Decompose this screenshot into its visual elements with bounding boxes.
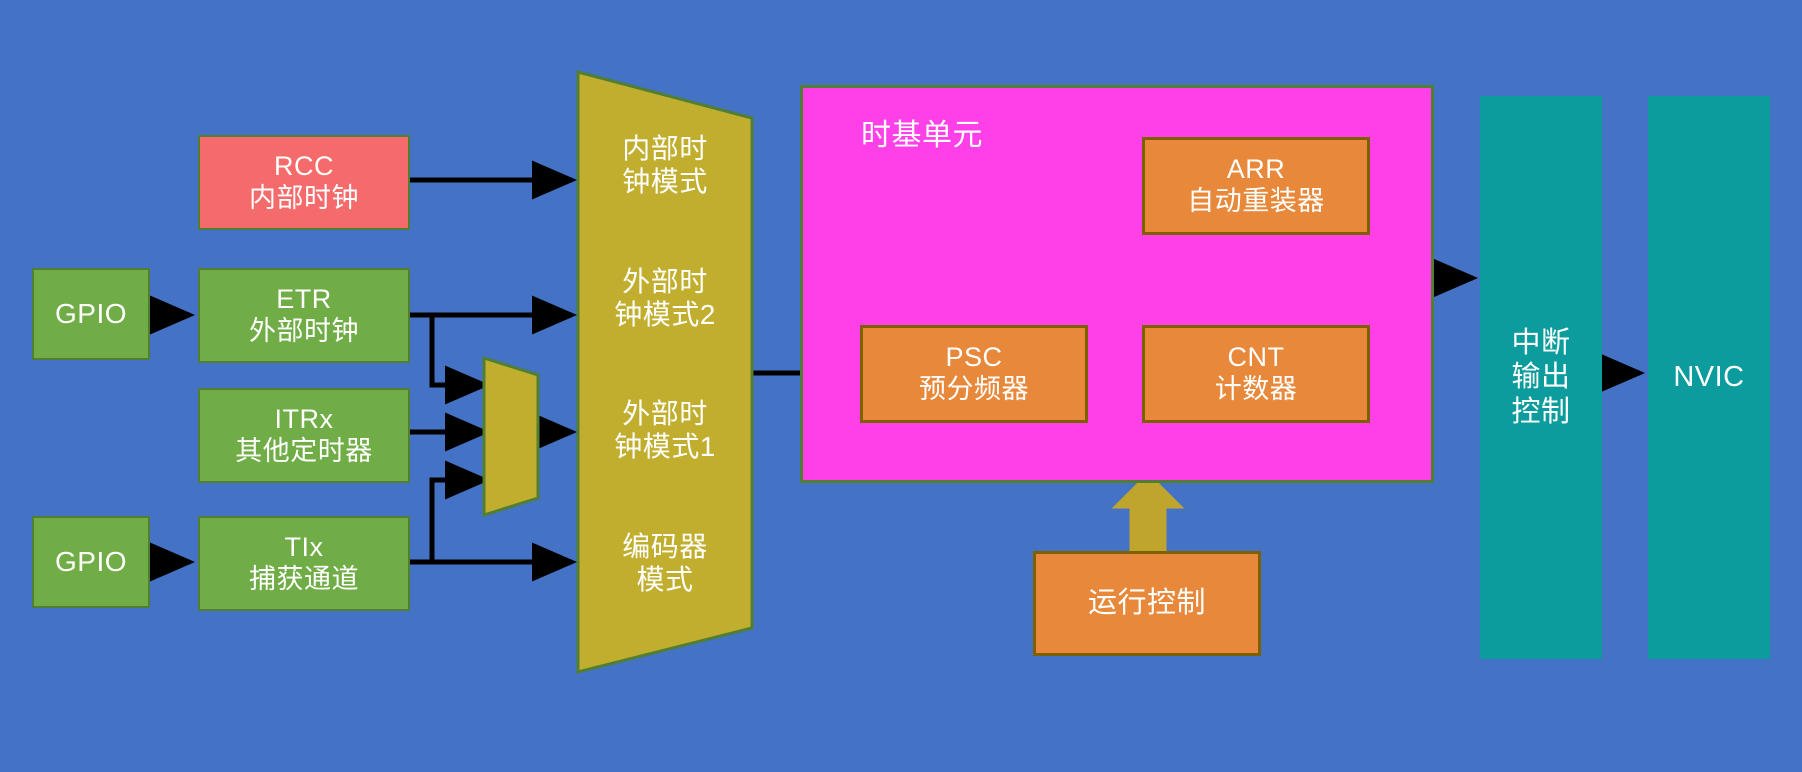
trigger-mux-shape [484, 358, 538, 515]
mode-1-line1: 外部时 [622, 265, 708, 298]
mode-encoder[interactable]: 编码器 模式 [590, 518, 740, 608]
mode-external-clock-1[interactable]: 外部时 钟模式1 [590, 385, 740, 475]
gpio-bottom-box[interactable]: GPIO [32, 516, 150, 608]
arr-label-line2: 自动重装器 [1187, 186, 1325, 218]
tix-capture-channel-box[interactable]: TIx 捕获通道 [198, 516, 410, 611]
mode-1-line2: 钟模式2 [614, 298, 716, 331]
nvic-label: NVIC [1673, 360, 1744, 394]
gpio-bottom-label: GPIO [55, 545, 127, 578]
psc-label-line1: PSC [945, 342, 1002, 374]
mode-external-clock-2[interactable]: 外部时 钟模式2 [590, 253, 740, 343]
nvic-box[interactable]: NVIC [1648, 96, 1770, 659]
gpio-top-label: GPIO [55, 297, 127, 330]
arr-label-line1: ARR [1227, 154, 1286, 186]
tix-label-line1: TIx [285, 532, 324, 564]
mode-0-line1: 内部时 [622, 132, 708, 165]
etr-label-line1: ETR [276, 284, 332, 316]
arr-box[interactable]: ARR 自动重装器 [1142, 137, 1370, 235]
mode-0-line2: 钟模式 [622, 165, 708, 198]
rcc-label-line1: RCC [274, 151, 334, 183]
itrx-other-timer-box[interactable]: ITRx 其他定时器 [198, 388, 410, 483]
interrupt-output-control-box[interactable]: 中断 输出 控制 [1480, 96, 1602, 659]
cnt-label-line1: CNT [1228, 342, 1285, 374]
mode-3-line1: 编码器 [622, 530, 708, 563]
interrupt-output-line2: 输出 [1511, 360, 1570, 394]
psc-box[interactable]: PSC 预分频器 [860, 325, 1088, 423]
mode-3-line2: 模式 [636, 563, 693, 596]
run-control-box[interactable]: 运行控制 [1033, 551, 1261, 656]
gpio-top-box[interactable]: GPIO [32, 268, 150, 360]
itrx-label-line1: ITRx [275, 404, 334, 436]
interrupt-output-line3: 控制 [1511, 395, 1570, 429]
interrupt-output-line1: 中断 [1511, 326, 1570, 360]
cnt-label-line2: 计数器 [1215, 374, 1298, 406]
itrx-label-line2: 其他定时器 [235, 436, 373, 468]
time-base-unit-title: 时基单元 [861, 118, 983, 153]
mode-2-line2: 钟模式1 [614, 430, 716, 463]
etr-external-clock-box[interactable]: ETR 外部时钟 [198, 268, 410, 363]
cnt-box[interactable]: CNT 计数器 [1142, 325, 1370, 423]
etr-label-line2: 外部时钟 [249, 316, 359, 348]
rcc-internal-clock-box[interactable]: RCC 内部时钟 [198, 135, 410, 230]
diagram-canvas: GPIO GPIO RCC 内部时钟 ETR 外部时钟 ITRx 其他定时器 T… [0, 0, 1802, 772]
mode-internal-clock[interactable]: 内部时 钟模式 [590, 120, 740, 210]
rcc-label-line2: 内部时钟 [249, 183, 359, 215]
mode-2-line1: 外部时 [622, 397, 708, 430]
psc-label-line2: 预分频器 [919, 374, 1029, 406]
run-control-label: 运行控制 [1088, 586, 1206, 620]
tix-label-line2: 捕获通道 [249, 564, 359, 596]
